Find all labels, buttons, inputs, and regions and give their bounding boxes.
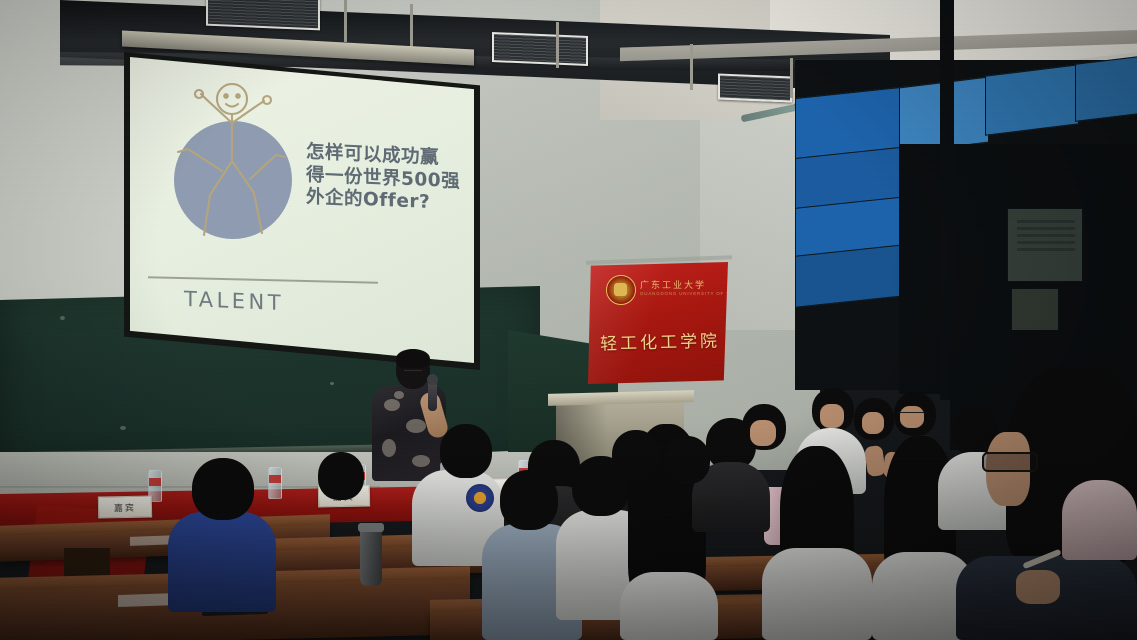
student-face <box>750 420 776 446</box>
glass-sign <box>1017 220 1075 254</box>
student-head <box>192 458 254 520</box>
student-head <box>500 470 558 530</box>
steel-thermos <box>360 528 382 586</box>
microphone <box>428 381 437 411</box>
student-face <box>862 412 884 434</box>
water-bottle <box>268 467 282 499</box>
foreground-student-hand <box>1016 570 1060 604</box>
college-banner: 广东工业大学 GUANGDONG UNIVERSITY OF TECHNOLOG… <box>588 262 728 384</box>
university-emblem-icon <box>606 275 636 305</box>
vent-grille-icon <box>206 0 320 30</box>
duct-hanger <box>556 22 559 68</box>
shirt-logo-icon <box>466 484 494 512</box>
student-body <box>620 572 718 640</box>
student-body <box>1062 480 1137 560</box>
slide-footer-word: TALENT <box>184 287 284 315</box>
student-head <box>440 424 492 478</box>
foreground-glasses-icon <box>982 452 1038 472</box>
student-body <box>762 548 872 640</box>
slide: 怎样可以成功赢 得一份世界500强 外企的Offer? TALENT <box>130 57 474 363</box>
student-face <box>820 404 844 428</box>
projector-screen: 怎样可以成功赢 得一份世界500强 外企的Offer? TALENT <box>130 57 474 363</box>
student-head <box>612 430 660 480</box>
student-glasses-icon <box>898 412 924 418</box>
lecture-hall-photo: 怎样可以成功赢 得一份世界500强 外企的Offer? TALENT 广东工业大… <box>0 0 1137 640</box>
stick-figure-icon <box>158 75 308 275</box>
duct-hanger <box>790 58 793 98</box>
slide-divider <box>148 276 378 284</box>
student-head <box>664 436 710 484</box>
student-body <box>168 512 276 612</box>
vent-grille-icon <box>718 73 792 102</box>
presenter-bangs <box>396 349 430 368</box>
banner-university-name: 广东工业大学 <box>640 278 706 291</box>
duct-hanger <box>410 4 413 52</box>
window-panel-light <box>1075 56 1137 122</box>
banner-organization: 轻工化工学院 <box>600 326 721 354</box>
interior-window-lower <box>1011 288 1059 334</box>
vent-grille-icon <box>492 32 588 66</box>
slide-heading: 怎样可以成功赢 得一份世界500强 外企的Offer? <box>306 141 466 216</box>
student-head <box>318 452 364 500</box>
microphone-head-icon <box>427 374 438 385</box>
duct-hanger <box>690 44 693 90</box>
presenter-glasses-icon <box>404 370 422 375</box>
duct-hanger <box>344 0 347 42</box>
thermos-lid <box>358 523 384 532</box>
window-panel-light <box>985 64 1079 136</box>
window-panel-blue <box>795 244 905 308</box>
guest-name-card: 嘉宾 <box>98 496 152 519</box>
